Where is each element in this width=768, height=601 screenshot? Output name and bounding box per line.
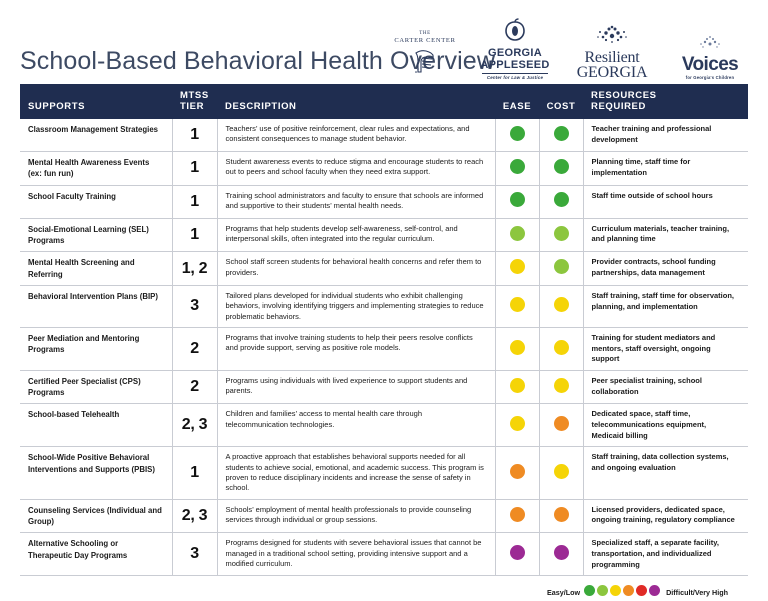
cell-mtss-tier: 2, 3 <box>172 499 217 533</box>
cost-dot <box>554 416 569 431</box>
table-row: Behavioral Intervention Plans (BIP)3Tail… <box>20 285 748 327</box>
apple-icon <box>504 18 526 47</box>
cost-dot <box>554 545 569 560</box>
cell-ease <box>495 185 539 218</box>
voices-logo-tagline: for Georgia's Children <box>686 75 734 80</box>
cell-ease <box>495 404 539 447</box>
cell-description: Training school administrators and facul… <box>217 185 495 218</box>
column-header-mtss-line2: TIER <box>180 101 209 112</box>
cell-resources: Staff training, data collection systems,… <box>583 447 748 499</box>
ease-dot <box>510 297 525 312</box>
cell-ease <box>495 447 539 499</box>
table-row: Mental Health Screening and Referring1, … <box>20 252 748 286</box>
cell-mtss-tier: 3 <box>172 285 217 327</box>
partner-logos: THE CARTER CENTER <box>386 18 748 80</box>
cell-mtss-tier: 1 <box>172 152 217 186</box>
column-header-cost: COST <box>539 84 583 119</box>
ease-dot <box>510 159 525 174</box>
cell-description: Programs designed for students with seve… <box>217 533 495 576</box>
carter-center-logo-line2: CARTER CENTER <box>394 37 455 45</box>
cell-support: School Faculty Training <box>20 185 172 218</box>
cell-description: Programs that involve training students … <box>217 327 495 370</box>
column-header-supports: SUPPORTS <box>20 84 172 119</box>
table-header: SUPPORTS MTSS TIER DESCRIPTION EASE COST… <box>20 84 748 119</box>
ease-dot <box>510 192 525 207</box>
table-row: Peer Mediation and Mentoring Programs2Pr… <box>20 327 748 370</box>
column-header-resources: RESOURCES REQUIRED <box>583 84 748 119</box>
cell-support: Social-Emotional Learning (SEL) Programs <box>20 218 172 252</box>
cost-dot <box>554 192 569 207</box>
georgia-appleseed-logo-line1: GEORGIA <box>488 48 542 60</box>
cell-cost <box>539 533 583 576</box>
table-row: Counseling Services (Individual and Grou… <box>20 499 748 533</box>
cell-support: Classroom Management Strategies <box>20 119 172 152</box>
column-header-resources-line1: RESOURCES <box>591 90 740 101</box>
table-row: School-Wide Positive Behavioral Interven… <box>20 447 748 499</box>
cost-dot <box>554 378 569 393</box>
resilient-georgia-logo-line1: Resilient <box>584 50 639 65</box>
cell-support: Counseling Services (Individual and Grou… <box>20 499 172 533</box>
cell-ease <box>495 152 539 186</box>
ease-dot <box>510 545 525 560</box>
cell-ease <box>495 327 539 370</box>
cell-description: Tailored plans developed for individual … <box>217 285 495 327</box>
sparkle-icon <box>695 35 725 55</box>
voices-logo-line1: Voices <box>682 55 738 74</box>
table-row: School Faculty Training1Training school … <box>20 185 748 218</box>
cell-ease <box>495 533 539 576</box>
legend-dot <box>610 585 621 596</box>
table-row: Mental Health Awareness Events (ex: fun … <box>20 152 748 186</box>
ease-dot <box>510 507 525 522</box>
carter-center-logo: THE CARTER CENTER <box>386 31 464 80</box>
legend-dot <box>636 585 647 596</box>
legend-swatches <box>584 583 662 601</box>
cell-resources: Dedicated space, staff time, telecommuni… <box>583 404 748 447</box>
resilient-georgia-logo: Resilient GEORGIA <box>566 25 658 80</box>
cell-description: Children and families’ access to mental … <box>217 404 495 447</box>
cell-support: School-based Telehealth <box>20 404 172 447</box>
legend-dot <box>623 585 634 596</box>
cell-description: Schools’ employment of mental health pro… <box>217 499 495 533</box>
cell-mtss-tier: 1 <box>172 119 217 152</box>
cell-cost <box>539 370 583 404</box>
cost-dot <box>554 126 569 141</box>
cell-resources: Provider contracts, school funding partn… <box>583 252 748 286</box>
cost-dot <box>554 226 569 241</box>
voices-logo: Voices for Georgia's Children <box>672 35 748 80</box>
column-header-ease: EASE <box>495 84 539 119</box>
cell-cost <box>539 152 583 186</box>
cost-dot <box>554 259 569 274</box>
cell-resources: Specialized staff, a separate facility, … <box>583 533 748 576</box>
cell-ease <box>495 119 539 152</box>
cell-mtss-tier: 1 <box>172 218 217 252</box>
cell-support: Mental Health Screening and Referring <box>20 252 172 286</box>
column-header-resources-line2: REQUIRED <box>591 101 740 112</box>
cell-ease <box>495 252 539 286</box>
resilient-georgia-logo-line2: GEORGIA <box>577 65 648 80</box>
cost-dot <box>554 507 569 522</box>
table-row: School-based Telehealth2, 3Children and … <box>20 404 748 447</box>
carter-center-bird-icon <box>412 47 438 80</box>
cell-cost <box>539 327 583 370</box>
cell-mtss-tier: 2 <box>172 370 217 404</box>
cell-resources: Planning time, staff time for implementa… <box>583 152 748 186</box>
cell-cost <box>539 185 583 218</box>
cell-cost <box>539 404 583 447</box>
table-row: Social-Emotional Learning (SEL) Programs… <box>20 218 748 252</box>
cell-mtss-tier: 2 <box>172 327 217 370</box>
cell-resources: Licensed providers, dedicated space, ong… <box>583 499 748 533</box>
cell-cost <box>539 447 583 499</box>
cell-support: Peer Mediation and Mentoring Programs <box>20 327 172 370</box>
georgia-appleseed-logo-line2: APPLESEED <box>480 60 549 72</box>
page-header: School-Based Behavioral Health Overview … <box>20 0 748 84</box>
ease-dot <box>510 126 525 141</box>
cell-mtss-tier: 3 <box>172 533 217 576</box>
cell-cost <box>539 119 583 152</box>
legend-right-label: Difficult/Very High <box>666 588 728 597</box>
cell-description: Student awareness events to reduce stigm… <box>217 152 495 186</box>
cell-resources: Curriculum materials, teacher training, … <box>583 218 748 252</box>
column-header-mtss-tier: MTSS TIER <box>172 84 217 119</box>
cell-mtss-tier: 2, 3 <box>172 404 217 447</box>
supports-table: SUPPORTS MTSS TIER DESCRIPTION EASE COST… <box>20 84 748 576</box>
cell-support: Alternative Schooling or Therapeutic Day… <box>20 533 172 576</box>
cell-support: Mental Health Awareness Events (ex: fun … <box>20 152 172 186</box>
poster-page: School-Based Behavioral Health Overview … <box>0 0 768 584</box>
cell-description: School staff screen students for behavio… <box>217 252 495 286</box>
cell-mtss-tier: 1 <box>172 185 217 218</box>
cell-resources: Peer specialist training, school collabo… <box>583 370 748 404</box>
cell-description: Programs using individuals with lived ex… <box>217 370 495 404</box>
cell-resources: Staff training, staff time for observati… <box>583 285 748 327</box>
cell-ease <box>495 285 539 327</box>
table-row: Certified Peer Specialist (CPS) Programs… <box>20 370 748 404</box>
cost-dot <box>554 340 569 355</box>
cell-support: Certified Peer Specialist (CPS) Programs <box>20 370 172 404</box>
cell-cost <box>539 499 583 533</box>
cell-mtss-tier: 1 <box>172 447 217 499</box>
georgia-appleseed-logo-tagline: Center for Law & Justice <box>487 75 543 80</box>
ease-dot <box>510 464 525 479</box>
starburst-icon <box>595 25 629 50</box>
legend-dot <box>597 585 608 596</box>
logo-divider <box>482 73 548 74</box>
cell-cost <box>539 218 583 252</box>
legend: Easy/Low Difficult/Very High <box>20 583 748 601</box>
ease-dot <box>510 340 525 355</box>
ease-dot <box>510 378 525 393</box>
legend-dot <box>584 585 595 596</box>
cost-dot <box>554 464 569 479</box>
table-body: Classroom Management Strategies1Teachers… <box>20 119 748 576</box>
cell-cost <box>539 252 583 286</box>
cell-support: Behavioral Intervention Plans (BIP) <box>20 285 172 327</box>
cell-resources: Teacher training and professional develo… <box>583 119 748 152</box>
table-row: Classroom Management Strategies1Teachers… <box>20 119 748 152</box>
cell-mtss-tier: 1, 2 <box>172 252 217 286</box>
cell-resources: Training for student mediators and mento… <box>583 327 748 370</box>
cost-dot <box>554 159 569 174</box>
cell-cost <box>539 285 583 327</box>
ease-dot <box>510 416 525 431</box>
table-header-row: SUPPORTS MTSS TIER DESCRIPTION EASE COST… <box>20 84 748 119</box>
ease-dot <box>510 226 525 241</box>
column-header-mtss-line1: MTSS <box>180 90 209 101</box>
cell-support: School-Wide Positive Behavioral Interven… <box>20 447 172 499</box>
cell-description: Programs that help students develop self… <box>217 218 495 252</box>
cell-ease <box>495 218 539 252</box>
cell-ease <box>495 499 539 533</box>
cell-description: Teachers’ use of positive reinforcement,… <box>217 119 495 152</box>
cell-description: A proactive approach that establishes be… <box>217 447 495 499</box>
ease-dot <box>510 259 525 274</box>
column-header-description: DESCRIPTION <box>217 84 495 119</box>
legend-dot <box>649 585 660 596</box>
cost-dot <box>554 297 569 312</box>
cell-resources: Staff time outside of school hours <box>583 185 748 218</box>
table-row: Alternative Schooling or Therapeutic Day… <box>20 533 748 576</box>
cell-ease <box>495 370 539 404</box>
legend-left-label: Easy/Low <box>547 588 580 597</box>
georgia-appleseed-logo: GEORGIA APPLESEED Center for Law & Justi… <box>478 18 552 80</box>
